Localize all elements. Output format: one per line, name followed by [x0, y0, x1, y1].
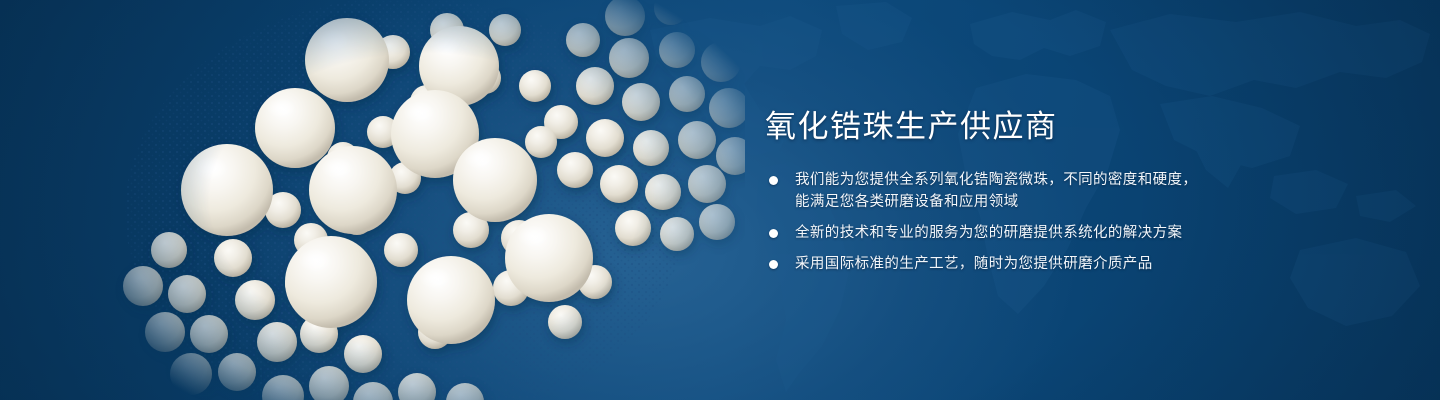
zirconia-beads-photo	[105, 0, 745, 400]
list-item-line-1: 我们能为您提供全系列氧化锆陶瓷微珠，不同的密度和硬度，	[795, 169, 1225, 191]
list-item-line-1: 采用国际标准的生产工艺，随时为您提供研磨介质产品	[795, 253, 1225, 275]
feature-list: 我们能为您提供全系列氧化锆陶瓷微珠，不同的密度和硬度， 能满足您各类研磨设备和应…	[765, 169, 1225, 275]
page-title: 氧化锆珠生产供应商	[765, 108, 1225, 145]
bullet-dot-icon	[769, 229, 778, 238]
list-item-line-2: 能满足您各类研磨设备和应用领域	[795, 191, 1225, 213]
banner-content: 氧化锆珠生产供应商 我们能为您提供全系列氧化锆陶瓷微珠，不同的密度和硬度， 能满…	[765, 108, 1225, 275]
bullet-dot-icon	[769, 260, 778, 269]
bullet-dot-icon	[769, 176, 778, 185]
list-item: 采用国际标准的生产工艺，随时为您提供研磨介质产品	[765, 253, 1225, 275]
list-item: 全新的技术和专业的服务为您的研磨提供系统化的解决方案	[765, 222, 1225, 244]
hero-banner: 氧化锆珠生产供应商 我们能为您提供全系列氧化锆陶瓷微珠，不同的密度和硬度， 能满…	[0, 0, 1440, 400]
list-item-line-1: 全新的技术和专业的服务为您的研磨提供系统化的解决方案	[795, 222, 1225, 244]
list-item: 我们能为您提供全系列氧化锆陶瓷微珠，不同的密度和硬度， 能满足您各类研磨设备和应…	[765, 169, 1225, 213]
